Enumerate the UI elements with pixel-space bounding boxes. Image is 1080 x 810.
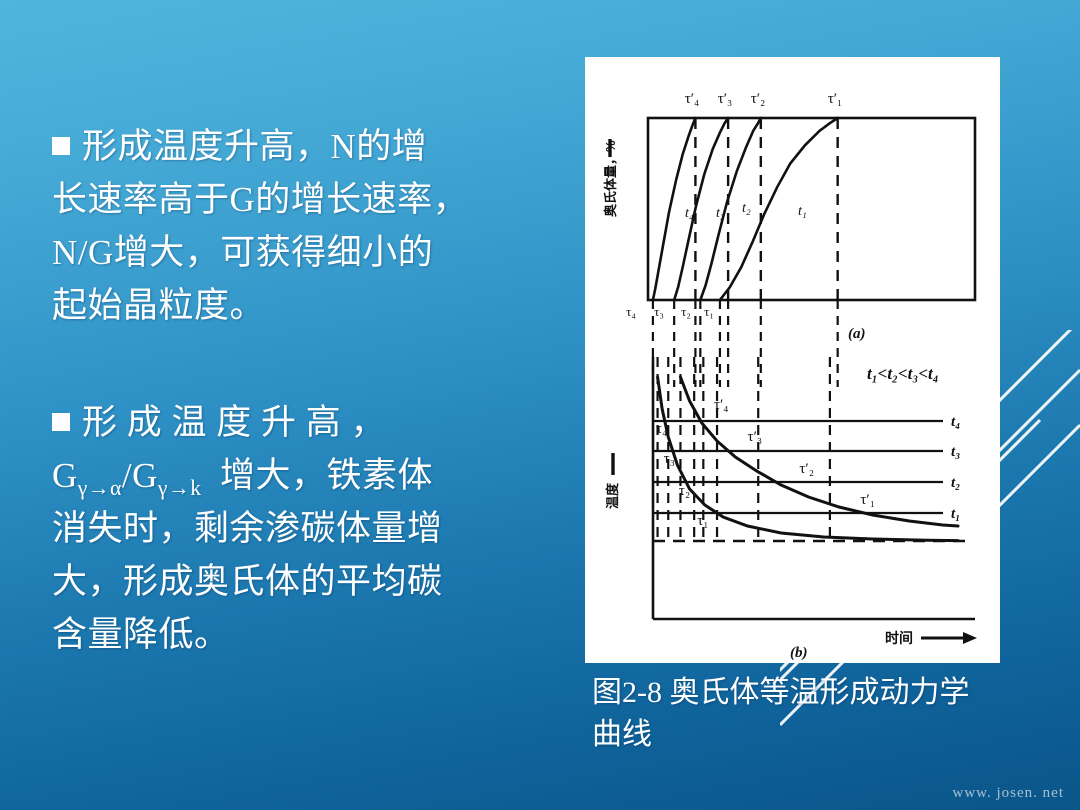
- panel-a-series-label-3: t₁: [798, 204, 807, 219]
- formula-g1: G: [52, 456, 78, 495]
- panel-b-tau-label-6: τ′₂: [799, 461, 814, 477]
- panel-a-curve-3: [720, 118, 838, 300]
- bullet-2-line-4: 大，形成奥氏体的平均碳: [52, 562, 443, 601]
- formula-slash: /G: [122, 456, 158, 495]
- bullet-2-line-1: 形 成 温 度 升 高 ，: [82, 403, 386, 442]
- panel-b-temp-label-3: t₁: [951, 506, 960, 522]
- bullet-1-line-3: N/G增大，可获得细小的: [52, 233, 433, 272]
- panel-a-top-tick-1: τ′₃: [718, 91, 733, 107]
- panel-b-tau-label-7: τ′₁: [860, 492, 875, 508]
- panel-a-bottom-tick-3: τ₁: [704, 304, 714, 319]
- panel-a-series-label-2: t₂: [742, 201, 751, 216]
- panel-a-label: (a): [848, 326, 866, 342]
- bullet-1-line-4: 起始晶粒度。: [52, 286, 265, 325]
- panel-a-group: 奥氏体量，% τ′₄ τ′₃ τ′₂ τ′₁ τ₄ τ₃ τ₂ τ₁ t₄ t₃…: [603, 91, 975, 342]
- panel-a-bottom-tick-1: τ₃: [654, 304, 664, 319]
- panel-a-top-tick-2: τ′₂: [751, 91, 766, 107]
- formula-g-gamma-alpha: Gγ→α/Gγ→k: [52, 456, 202, 495]
- panel-b-tau-label-5: τ′₃: [748, 429, 763, 445]
- bullet-1-line-2: 长速率高于G的增长速率，: [52, 180, 468, 219]
- bullet-paragraph-2: 形 成 温 度 升 高 ， Gγ→α/Gγ→k 增大，铁素体 消失时，剩余渗碳体…: [52, 396, 562, 661]
- panel-b-ylabel: 温度: [605, 482, 620, 509]
- panel-b-ylabel-group: 温度: [605, 482, 620, 509]
- panel-a-top-tick-0: τ′₄: [685, 91, 700, 107]
- figure-svg: 奥氏体量，% τ′₄ τ′₃ τ′₂ τ′₁ τ₄ τ₃ τ₂ τ₁ t₄ t₃…: [585, 57, 1000, 663]
- square-bullet-icon-2: [52, 413, 70, 431]
- panel-b-temp-label-0: t₄: [951, 414, 960, 430]
- formula-sub-2: γ→k: [158, 476, 202, 500]
- figure-caption: 图2-8 奥氏体等温形成动力学曲线: [592, 672, 992, 756]
- panel-b-group: 温度 时间 t₄t₃t₂t₁ t₁<t₂<t₃<t₄ τ₄τ₃τ₂τ₁τ′₄τ′…: [605, 357, 977, 661]
- square-bullet-icon: [52, 137, 70, 155]
- panel-a-curve-2: [700, 118, 760, 300]
- panel-b-xlabel: 时间: [885, 630, 913, 646]
- figure-image-panel: 奥氏体量，% τ′₄ τ′₃ τ′₂ τ′₁ τ₄ τ₃ τ₂ τ₁ t₄ t₃…: [585, 57, 1000, 663]
- panel-b-temp-label-2: t₂: [951, 475, 960, 491]
- panel-b-tau-label-3: τ₁: [697, 513, 708, 529]
- panel-b-tau-label-4: τ′₄: [714, 397, 729, 413]
- panel-a-bottom-tick-2: τ₂: [681, 304, 691, 319]
- bullet-1-line-1: 形成温度升高，N的增: [82, 127, 427, 166]
- bullet-2-line-3: 消失时，剩余渗碳体量增: [52, 509, 443, 548]
- panel-b-annotation: t₁<t₂<t₃<t₄: [867, 364, 939, 383]
- site-watermark: www. josen. net: [952, 785, 1064, 802]
- formula-sub-1: γ→α: [78, 476, 122, 500]
- panel-a-axis-box: [648, 118, 975, 300]
- bullet-2-line-2-tail: 增大，铁素体: [220, 456, 433, 495]
- panel-b-xlabel-arrow-icon: [921, 632, 977, 644]
- slide-body-text: 形成温度升高，N的增 长速率高于G的增长速率， N/G增大，可获得细小的 起始晶…: [52, 120, 562, 661]
- panel-b-label: (b): [790, 645, 808, 661]
- panel-a-top-tick-3: τ′₁: [828, 91, 843, 107]
- panel-a-bottom-tick-0: τ₄: [626, 304, 636, 319]
- bullet-paragraph-1: 形成温度升高，N的增 长速率高于G的增长速率， N/G增大，可获得细小的 起始晶…: [52, 120, 562, 332]
- bullet-2-line-5: 含量降低。: [52, 615, 230, 654]
- panel-b-temp-label-1: t₃: [951, 444, 960, 460]
